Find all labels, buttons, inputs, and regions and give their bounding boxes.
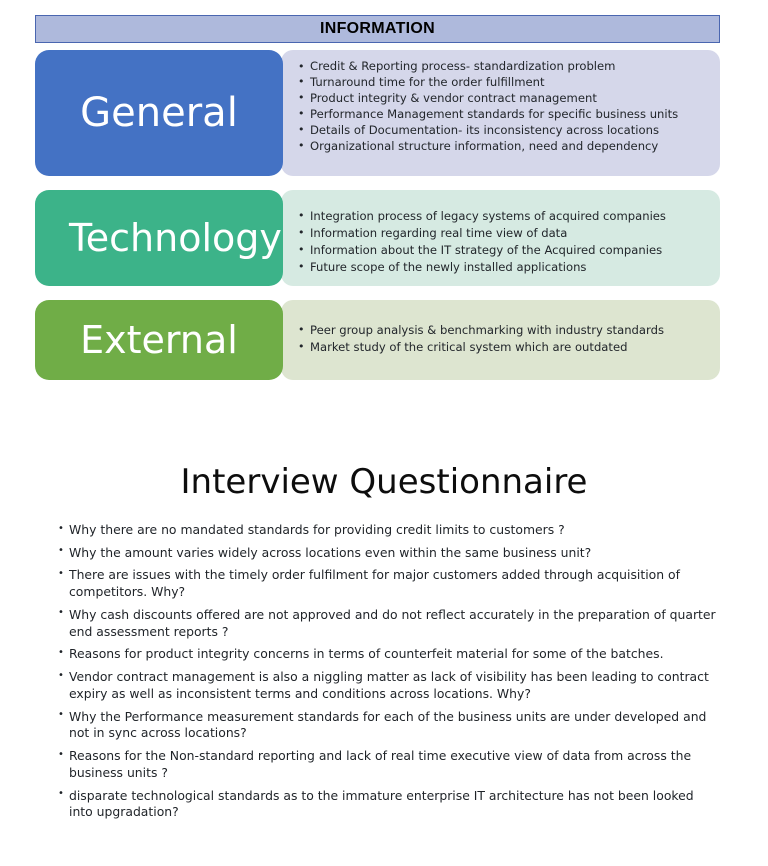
list-item: Why the Performance measurement standard… xyxy=(58,709,718,742)
information-header-title: INFORMATION xyxy=(320,20,435,38)
list-item: Credit & Reporting process- standardizat… xyxy=(297,59,706,75)
list-item: Why the amount varies widely across loca… xyxy=(58,545,718,562)
category-label-text: External xyxy=(35,321,283,359)
list-item: Vendor contract management is also a nig… xyxy=(58,669,718,702)
category-label-general: General xyxy=(35,50,283,176)
category-row-general: Credit & Reporting process- standardizat… xyxy=(35,50,720,176)
category-row-external: Peer group analysis & benchmarking with … xyxy=(35,300,720,380)
category-bullet-list-general: Credit & Reporting process- standardizat… xyxy=(297,59,706,155)
list-item: There are issues with the timely order f… xyxy=(58,567,718,600)
list-item: Information regarding real time view of … xyxy=(297,225,706,242)
category-panel-technology: Integration process of legacy systems of… xyxy=(281,190,720,286)
list-item: Why there are no mandated standards for … xyxy=(58,522,718,539)
list-item: Details of Documentation- its inconsiste… xyxy=(297,123,706,139)
category-row-technology: Integration process of legacy systems of… xyxy=(35,190,720,286)
list-item: Integration process of legacy systems of… xyxy=(297,208,706,225)
list-item: disparate technological standards as to … xyxy=(58,788,718,821)
list-item: Performance Management standards for spe… xyxy=(297,107,706,123)
information-header-bar: INFORMATION xyxy=(35,15,720,43)
list-item: Future scope of the newly installed appl… xyxy=(297,259,706,276)
list-item: Peer group analysis & benchmarking with … xyxy=(297,322,706,339)
list-item: Information about the IT strategy of the… xyxy=(297,242,706,259)
list-item: Market study of the critical system whic… xyxy=(297,339,706,356)
list-item: Reasons for product integrity concerns i… xyxy=(58,646,718,663)
category-label-technology: Technology xyxy=(35,190,283,286)
category-panel-general: Credit & Reporting process- standardizat… xyxy=(281,50,720,176)
category-label-text: General xyxy=(35,93,283,133)
category-label-text: Technology xyxy=(69,219,249,257)
list-item: Product integrity & vendor contract mana… xyxy=(297,91,706,107)
category-bullet-list-technology: Integration process of legacy systems of… xyxy=(297,208,706,276)
list-item: Turnaround time for the order fulfillmen… xyxy=(297,75,706,91)
category-label-external: External xyxy=(35,300,283,380)
category-bullet-list-external: Peer group analysis & benchmarking with … xyxy=(297,322,706,356)
list-item: Why cash discounts offered are not appro… xyxy=(58,607,718,640)
list-item: Reasons for the Non-standard reporting a… xyxy=(58,748,718,781)
questionnaire-title: Interview Questionnaire xyxy=(0,462,768,502)
questionnaire-list: Why there are no mandated standards for … xyxy=(58,522,718,827)
list-item: Organizational structure information, ne… xyxy=(297,139,706,155)
category-panel-external: Peer group analysis & benchmarking with … xyxy=(281,300,720,380)
